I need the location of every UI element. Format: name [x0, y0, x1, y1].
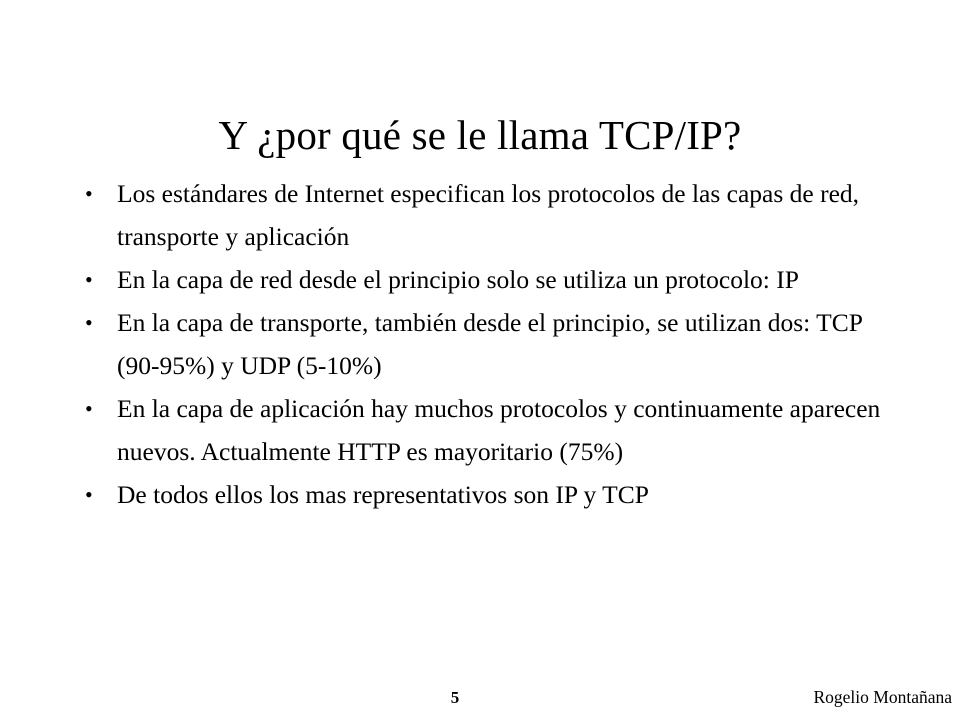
bullet-icon: • [85, 473, 103, 516]
list-item: • En la capa de transporte, también desd… [84, 301, 884, 387]
bullet-list: • Los estándares de Internet especifican… [84, 172, 884, 516]
list-item: • En la capa de red desde el principio s… [84, 258, 884, 301]
list-item-label: De todos ellos los mas representativos s… [117, 473, 884, 516]
list-item: • En la capa de aplicación hay muchos pr… [84, 387, 884, 473]
list-item: • Los estándares de Internet especifican… [84, 172, 884, 258]
list-item-label: En la capa de transporte, también desde … [117, 301, 884, 387]
bullet-icon: • [85, 172, 103, 215]
list-item: • De todos ellos los mas representativos… [84, 473, 884, 516]
author-credit: Rogelio Montañana [813, 686, 952, 708]
bullet-icon: • [85, 301, 103, 344]
page-title: Y ¿por qué se le llama TCP/IP? [60, 111, 900, 159]
list-item-label: En la capa de red desde el principio sol… [117, 258, 884, 301]
page-number: 5 [420, 688, 490, 708]
bullet-icon: • [85, 387, 103, 430]
bullet-icon: • [85, 258, 103, 301]
presentation-slide: Y ¿por qué se le llama TCP/IP? • Los est… [0, 0, 960, 720]
list-item-label: Los estándares de Internet especifican l… [117, 172, 884, 258]
list-item-label: En la capa de aplicación hay muchos prot… [117, 387, 884, 473]
